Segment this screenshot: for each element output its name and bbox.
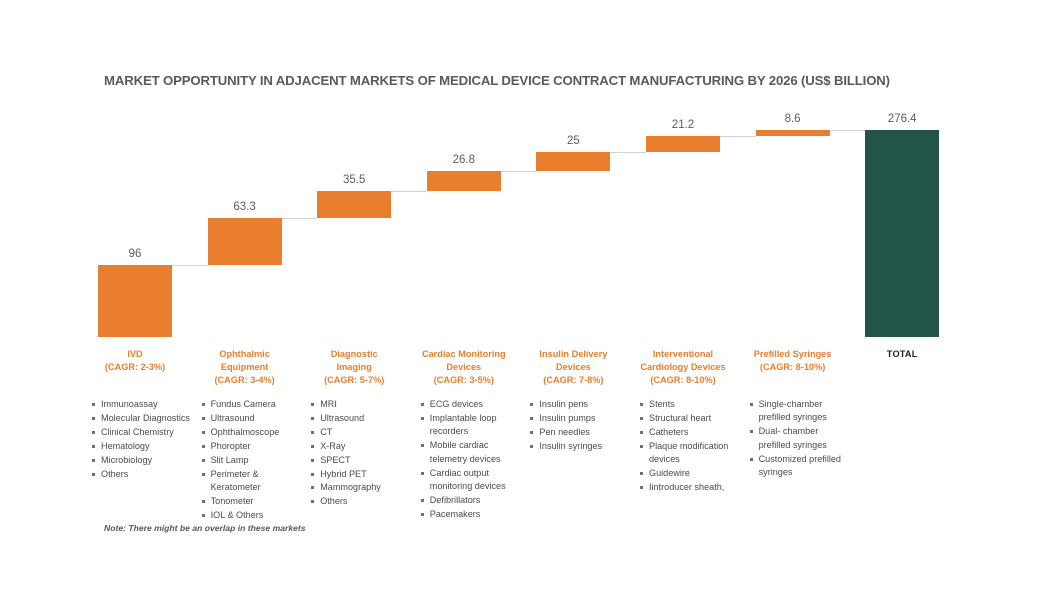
bar-value-prefilled-syringes: 8.6 — [740, 113, 846, 125]
column-header-line: IVD — [74, 348, 196, 361]
connector-prefilled-syringes — [830, 130, 866, 131]
column-header-line: Insulin Delivery — [512, 348, 634, 361]
list-item: Stents — [640, 398, 742, 411]
column-header-line: Interventional — [622, 348, 744, 361]
detail-list-prefilled-syringes: Single-chamber prefilled syringesDual- c… — [750, 398, 852, 480]
bar-ophthalmic-equipment — [208, 218, 282, 265]
list-item: Insulin syringes — [530, 440, 632, 453]
bar-prefilled-syringes — [756, 130, 830, 136]
list-item: Structural heart — [640, 412, 742, 425]
list-item: Insulin pens — [530, 398, 632, 411]
list-item: Plaque modification devices — [640, 440, 742, 467]
column-header-line: (CAGR: 8-10%) — [622, 374, 744, 387]
detail-list-ophthalmic-equipment: Fundus CameraUltrasoundOphthalmoscopePho… — [202, 398, 304, 523]
list-item: Implantable loop recorders — [421, 412, 523, 439]
list-item: Pen needles — [530, 426, 632, 439]
detail-list: Insulin pensInsulin pumpsPen needlesInsu… — [530, 398, 632, 453]
column-header-ophthalmic-equipment: OphthalmicEquipment(CAGR: 3-4%) — [184, 348, 306, 388]
column-header-insulin-delivery-devices: Insulin DeliveryDevices(CAGR: 7-8%) — [512, 348, 634, 388]
connector-diagnostic-imaging — [391, 191, 427, 192]
detail-list: StentsStructural heartCathetersPlaque mo… — [640, 398, 742, 494]
column-header-line: Imaging — [293, 361, 415, 374]
list-item: ECG devices — [421, 398, 523, 411]
list-item: Hematology — [92, 440, 194, 453]
column-header-line: TOTAL — [841, 348, 963, 361]
list-item: Single-chamber prefilled syringes — [750, 398, 852, 425]
waterfall-plot: 9663.335.526.82521.28.6276.4 — [0, 0, 1062, 345]
list-item: Ultrasound — [311, 412, 413, 425]
column-header-line: (CAGR: 7-8%) — [512, 374, 634, 387]
list-item: Customized prefilled syringes — [750, 453, 852, 480]
list-item: MRI — [311, 398, 413, 411]
detail-list: Single-chamber prefilled syringesDual- c… — [750, 398, 852, 479]
detail-list-cardiac-monitoring-devices: ECG devicesImplantable loop recordersMob… — [421, 398, 523, 522]
list-item: Mammography — [311, 481, 413, 494]
list-item: Dual- chamber prefilled syringes — [750, 425, 852, 452]
column-header-line: Diagnostic — [293, 348, 415, 361]
list-item: X-Ray — [311, 440, 413, 453]
list-item: Defibrillators — [421, 494, 523, 507]
chart-footnote: Note: There might be an overlap in these… — [104, 523, 306, 533]
column-header-diagnostic-imaging: DiagnosticImaging(CAGR: 5-7%) — [293, 348, 415, 388]
column-header-line: (CAGR: 8-10%) — [732, 361, 854, 374]
connector-interventional-cardiology-devices — [720, 136, 756, 137]
column-header-line: Devices — [512, 361, 634, 374]
column-header-prefilled-syringes: Prefilled Syringes(CAGR: 8-10%) — [732, 348, 854, 374]
list-item: Fundus Camera — [202, 398, 304, 411]
list-item: Perimeter & Keratometer — [202, 468, 304, 495]
list-item: IOL & Others — [202, 509, 304, 522]
connector-ophthalmic-equipment — [282, 218, 318, 219]
column-header-cardiac-monitoring-devices: Cardiac MonitoringDevices(CAGR: 3-5%) — [403, 348, 525, 388]
column-header-interventional-cardiology-devices: InterventionalCardiology Devices(CAGR: 8… — [622, 348, 744, 388]
list-item: Catheters — [640, 426, 742, 439]
detail-list-insulin-delivery-devices: Insulin pensInsulin pumpsPen needlesInsu… — [530, 398, 632, 454]
connector-insulin-delivery-devices — [610, 152, 646, 153]
list-item: Others — [311, 495, 413, 508]
detail-list-interventional-cardiology-devices: StentsStructural heartCathetersPlaque mo… — [640, 398, 742, 495]
detail-list: ECG devicesImplantable loop recordersMob… — [421, 398, 523, 521]
bar-value-ivd: 96 — [82, 248, 188, 260]
list-item: Molecular Diagnostics — [92, 412, 194, 425]
list-item: Phoropter — [202, 440, 304, 453]
bar-cardiac-monitoring-devices — [427, 171, 501, 191]
bar-diagnostic-imaging — [317, 191, 391, 218]
bar-insulin-delivery-devices — [536, 152, 610, 171]
list-item: SPECT — [311, 454, 413, 467]
connector-ivd — [172, 265, 208, 266]
list-item: Tonometer — [202, 495, 304, 508]
connector-cardiac-monitoring-devices — [501, 171, 537, 172]
chart-canvas: MARKET OPPORTUNITY IN ADJACENT MARKETS O… — [0, 0, 1062, 600]
column-header-line: Cardiology Devices — [622, 361, 744, 374]
bar-total — [865, 130, 939, 337]
detail-list: ImmunoassayMolecular DiagnosticsClinical… — [92, 398, 194, 481]
bar-value-diagnostic-imaging: 35.5 — [301, 174, 407, 186]
bar-value-insulin-delivery-devices: 25 — [520, 135, 626, 147]
list-item: Hybrid PET — [311, 468, 413, 481]
bar-value-ophthalmic-equipment: 63.3 — [192, 201, 298, 213]
column-header-line: (CAGR: 5-7%) — [293, 374, 415, 387]
column-header-line: Cardiac Monitoring — [403, 348, 525, 361]
list-item: Microbiology — [92, 454, 194, 467]
bar-interventional-cardiology-devices — [646, 136, 720, 152]
list-item: CT — [311, 426, 413, 439]
list-item: Cardiac output monitoring devices — [421, 467, 523, 494]
list-item: Slit Lamp — [202, 454, 304, 467]
list-item: Pacemakers — [421, 508, 523, 521]
list-item: Others — [92, 468, 194, 481]
list-item: Clinical Chemistry — [92, 426, 194, 439]
bar-value-interventional-cardiology-devices: 21.2 — [630, 119, 736, 131]
list-item: Guidewire — [640, 467, 742, 480]
list-item: Ophthalmoscope — [202, 426, 304, 439]
detail-list: MRIUltrasoundCTX-RaySPECTHybrid PETMammo… — [311, 398, 413, 509]
column-header-line: (CAGR: 2-3%) — [74, 361, 196, 374]
column-header-line: (CAGR: 3-5%) — [403, 374, 525, 387]
bar-value-cardiac-monitoring-devices: 26.8 — [411, 154, 517, 166]
list-item: Immunoassay — [92, 398, 194, 411]
list-item: Insulin pumps — [530, 412, 632, 425]
column-header-ivd: IVD(CAGR: 2-3%) — [74, 348, 196, 374]
list-item: Iintroducer sheath, — [640, 481, 742, 494]
detail-list: Fundus CameraUltrasoundOphthalmoscopePho… — [202, 398, 304, 522]
bar-value-total: 276.4 — [849, 113, 955, 125]
column-header-line: (CAGR: 3-4%) — [184, 374, 306, 387]
column-header-line: Equipment — [184, 361, 306, 374]
column-header-line: Prefilled Syringes — [732, 348, 854, 361]
bar-ivd — [98, 265, 172, 337]
list-item: Ultrasound — [202, 412, 304, 425]
detail-list-diagnostic-imaging: MRIUltrasoundCTX-RaySPECTHybrid PETMammo… — [311, 398, 413, 509]
detail-list-ivd: ImmunoassayMolecular DiagnosticsClinical… — [92, 398, 194, 481]
column-header-total: TOTAL — [841, 348, 963, 361]
column-header-line: Devices — [403, 361, 525, 374]
column-header-line: Ophthalmic — [184, 348, 306, 361]
list-item: Mobile cardiac telemetry devices — [421, 439, 523, 466]
